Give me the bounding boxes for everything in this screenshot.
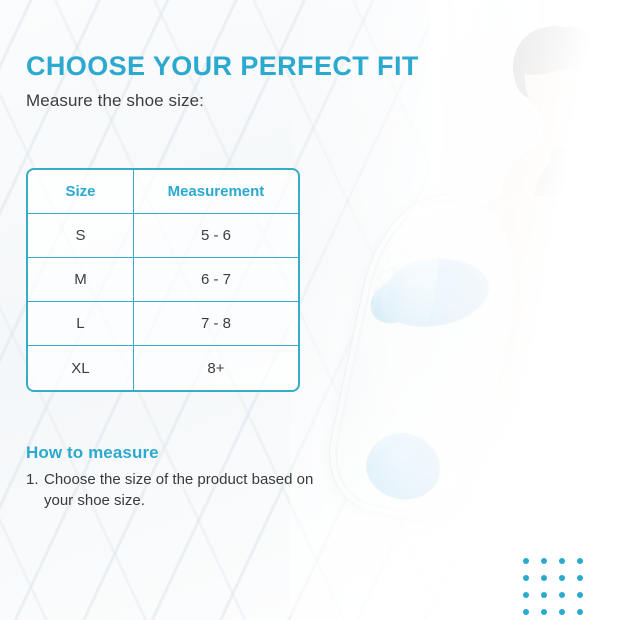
step-text: Choose the size of the product based on … <box>44 471 313 509</box>
dot <box>559 558 565 564</box>
size-chart-table: Size Measurement S 5 - 6 M 6 - 7 L 7 - 8… <box>26 168 300 392</box>
dot <box>541 575 547 581</box>
cell-size: M <box>28 258 134 302</box>
headline-block: CHOOSE YOUR PERFECT FIT Measure the shoe… <box>26 52 419 111</box>
list-item: 1. Choose the size of the product based … <box>26 469 346 512</box>
decorative-dot-grid <box>523 558 595 620</box>
dot <box>559 609 565 615</box>
dot <box>577 558 583 564</box>
column-header-size: Size <box>28 170 134 214</box>
cell-measurement: 6 - 7 <box>134 258 298 302</box>
dot <box>577 575 583 581</box>
table-row: M 6 - 7 <box>28 258 298 302</box>
page-title: CHOOSE YOUR PERFECT FIT <box>26 52 419 80</box>
dot <box>523 609 529 615</box>
table-row: L 7 - 8 <box>28 302 298 346</box>
dot <box>541 592 547 598</box>
page-subtitle: Measure the shoe size: <box>26 91 419 111</box>
dot <box>541 609 547 615</box>
dot <box>541 558 547 564</box>
cell-size: S <box>28 214 134 258</box>
table-header-row: Size Measurement <box>28 170 298 214</box>
dot <box>577 592 583 598</box>
dot <box>577 609 583 615</box>
how-to-measure-steps: 1. Choose the size of the product based … <box>26 469 346 512</box>
step-number: 1. <box>26 469 39 490</box>
cell-measurement: 8+ <box>134 346 298 390</box>
how-to-measure-title: How to measure <box>26 443 346 463</box>
cell-measurement: 7 - 8 <box>134 302 298 346</box>
table-row: XL 8+ <box>28 346 298 390</box>
dot <box>523 592 529 598</box>
cell-measurement: 5 - 6 <box>134 214 298 258</box>
column-header-measurement: Measurement <box>134 170 298 214</box>
size-guide-page: CHOOSE YOUR PERFECT FIT Measure the shoe… <box>0 0 620 620</box>
dot <box>523 558 529 564</box>
cell-size: L <box>28 302 134 346</box>
how-to-measure-block: How to measure 1. Choose the size of the… <box>26 443 346 512</box>
dot <box>523 575 529 581</box>
table-row: S 5 - 6 <box>28 214 298 258</box>
cell-size: XL <box>28 346 134 390</box>
dot <box>559 575 565 581</box>
dot <box>559 592 565 598</box>
